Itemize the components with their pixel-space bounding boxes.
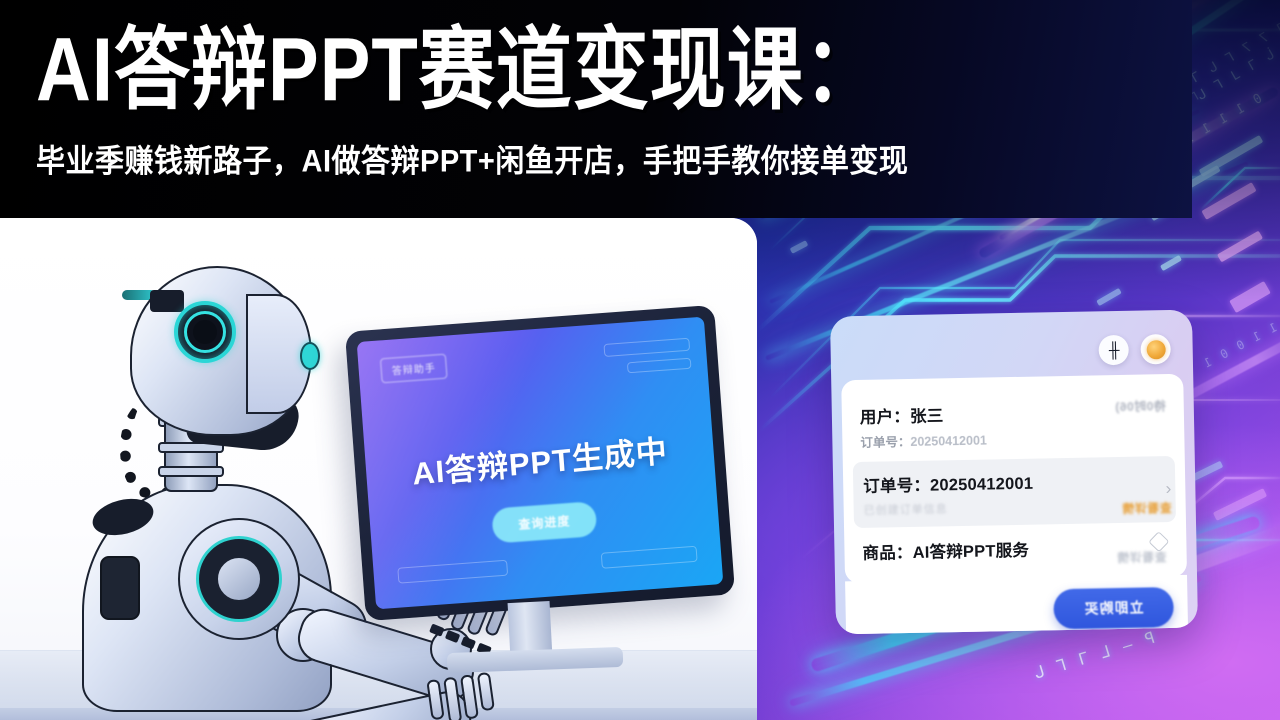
order-card-header: ╫ [838,318,1185,381]
screen-title: AI答辩PPT生成中 [365,421,715,497]
order-row-number[interactable]: 订单号：20250412001 已创建订单信息 查看详情 › [853,456,1176,528]
screen-placeholder-bar [603,338,690,357]
chevron-right-icon[interactable]: › [1165,479,1171,499]
user-row-note: 待0时06) [1115,397,1166,415]
illustration-panel: 答辩助手 AI答辩PPT生成中 查询进度 [0,218,757,720]
product-value: AI答辩PPT服务 [912,542,1029,562]
header-banner: AI答辩PPT赛道变现课： 毕业季赚钱新路子，AI做答辩PPT+闲鱼开店，手把手… [0,0,1192,218]
screen-progress-button[interactable]: 查询进度 [491,501,597,544]
order-card[interactable]: ╫ 用户：张三 订单号：20250412001 待0时06) 订单号：2025 [830,310,1198,635]
order-number-label: 订单号： [863,477,930,496]
robot-neck-segment [158,466,224,477]
settings-icon[interactable]: ╫ [1098,335,1129,366]
order-number-note: 已创建订单信息 [864,496,1166,518]
robot-hand-lower [426,672,497,720]
order-number-action-note[interactable]: 查看详情 [1122,499,1172,517]
robot-chest-panel [100,556,140,620]
page-subtitle: 毕业季赚钱新路子，AI做答辩PPT+闲鱼开店，手把手教你接单变现 [36,136,1192,181]
robot-finger [460,674,479,719]
order-card-footer: 立即购买 [845,575,1188,635]
order-number-value: 20250412001 [930,475,1033,495]
settings-icon-glyph: ╫ [1109,342,1119,357]
robot-finger [443,677,462,720]
user-label: 用户： [860,408,910,427]
poster-canvas: 1 J 7 7 ᒥ ᒐ ᒣ ᒥ 1 ᒧ ᒑ ᒣ ᒧ ᒥ ᒐ ᒣ 1 ᒧ ᒥ 0 … [0,0,1280,720]
robot-shoulder-core [216,556,262,602]
screen-placeholder-bar [601,546,698,569]
screen-tag: 答辩助手 [380,354,448,384]
robot-side-led [300,342,320,370]
order-card-body: 用户：张三 订单号：20250412001 待0时06) 订单号：2025041… [841,374,1187,584]
page-title: AI答辩PPT赛道变现课： [36,26,1192,116]
order-number-line: 订单号：20250412001 [863,467,1165,497]
monitor-screen: 答辩助手 AI答辩PPT生成中 查询进度 [357,317,724,610]
user-sub-value: 20250412001 [910,434,987,449]
user-value: 张三 [910,407,944,426]
monitor-bezel: 答辩助手 AI答辩PPT生成中 查询进度 [345,305,735,621]
screen-placeholder-bar [627,358,692,374]
buy-now-button[interactable]: 立即购买 [1053,587,1174,629]
product-label: 商品： [862,544,912,563]
order-row-product[interactable]: 商品：AI答辩PPT服务 查看详情 [860,524,1171,573]
robot-brow-slot [150,290,184,312]
account-icon[interactable] [1140,334,1171,365]
monitor-illustration: 答辩助手 AI答辩PPT生成中 查询进度 [355,318,725,608]
screen-placeholder-bar [397,560,508,584]
user-sub-line: 订单号：20250412001 [860,426,1166,451]
order-row-user[interactable]: 用户：张三 订单号：20250412001 待0时06) [857,388,1168,460]
account-icon-dot [1146,340,1165,359]
robot-eye-core [193,320,217,344]
user-sub-label: 订单号： [860,435,910,450]
product-row-note: 查看详情 [1116,548,1166,566]
